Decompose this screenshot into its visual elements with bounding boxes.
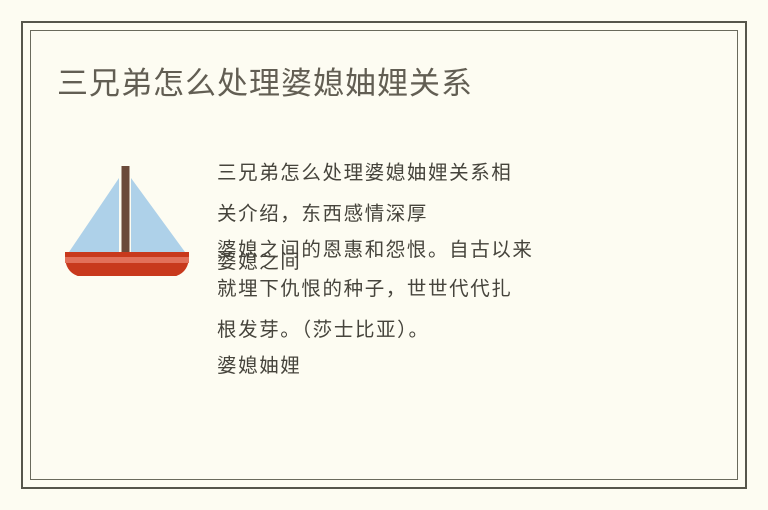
left-sail-shape (69, 178, 119, 252)
article-body: 三兄弟怎么处理婆媳妯娌关系相 关介绍，东西感情深厚 婆媳之间的恩惠和怨恨。自古以… (217, 150, 677, 384)
document-page: 三兄弟怎么处理婆媳妯娌关系 三兄弟怎么处理婆媳妯娌关系相 关介绍，东西感情深厚 … (0, 0, 768, 510)
sailboat-illustration-svg (57, 156, 197, 276)
body-line-1: 三兄弟怎么处理婆媳妯娌关系相 (217, 152, 677, 196)
body-line-6: 婆媳妯娌 (217, 350, 677, 384)
overlapping-ghost-text: 婆媳之间 (217, 248, 301, 278)
body-line-5: 根发芽。（莎士比亚）。 (217, 312, 677, 350)
hull-shape (65, 252, 189, 276)
body-line-2: 关介绍，东西感情深厚 (217, 196, 677, 234)
hull-stripe-shape (65, 257, 189, 263)
page-title: 三兄弟怎么处理婆媳妯娌关系 (57, 62, 473, 106)
mast-shape (122, 166, 130, 258)
right-sail-shape (131, 178, 185, 252)
article-content: 三兄弟怎么处理婆媳妯娌关系相 关介绍，东西感情深厚 婆媳之间的恩惠和怨恨。自古以… (57, 150, 677, 384)
sailboat-icon (57, 150, 217, 276)
